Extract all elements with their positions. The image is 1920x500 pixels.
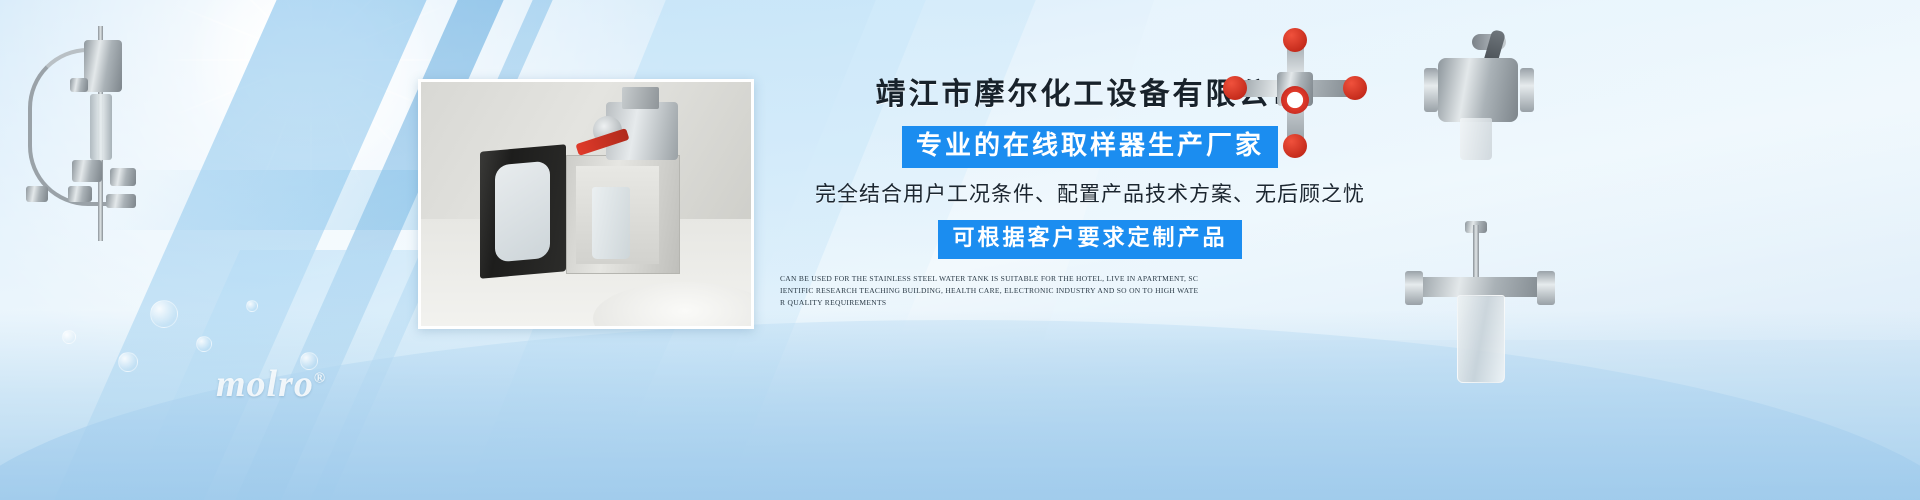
bubble-icon [118,352,138,372]
fine-print: CAN BE USED FOR THE STAINLESS STEEL WATE… [780,273,1200,309]
callout-badge: 可根据客户要求定制产品 [938,220,1241,259]
left-product-image [10,18,170,248]
watermark-text: molro [216,363,314,405]
right-top2-product-image [1420,30,1540,170]
callout-row: 可根据客户要求定制产品 [780,220,1400,259]
bubble-icon [150,300,178,328]
subline: 完全结合用户工况条件、配置产品技术方案、无后顾之忧 [780,180,1400,208]
product-photo [418,79,754,329]
right-bottom-product-image [1405,225,1555,400]
right-top-product-image [1215,28,1375,148]
brand-seal-icon [1281,86,1309,114]
bubble-icon [62,330,76,344]
promo-banner: 靖江市摩尔化工设备有限公司 专业的在线取样器生产厂家 完全结合用户工况条件、配置… [0,0,1920,500]
registered-mark-icon: ® [314,370,326,386]
bubble-icon [246,300,258,312]
watermark-logo: molro® [216,362,326,406]
bubble-icon [196,336,212,352]
